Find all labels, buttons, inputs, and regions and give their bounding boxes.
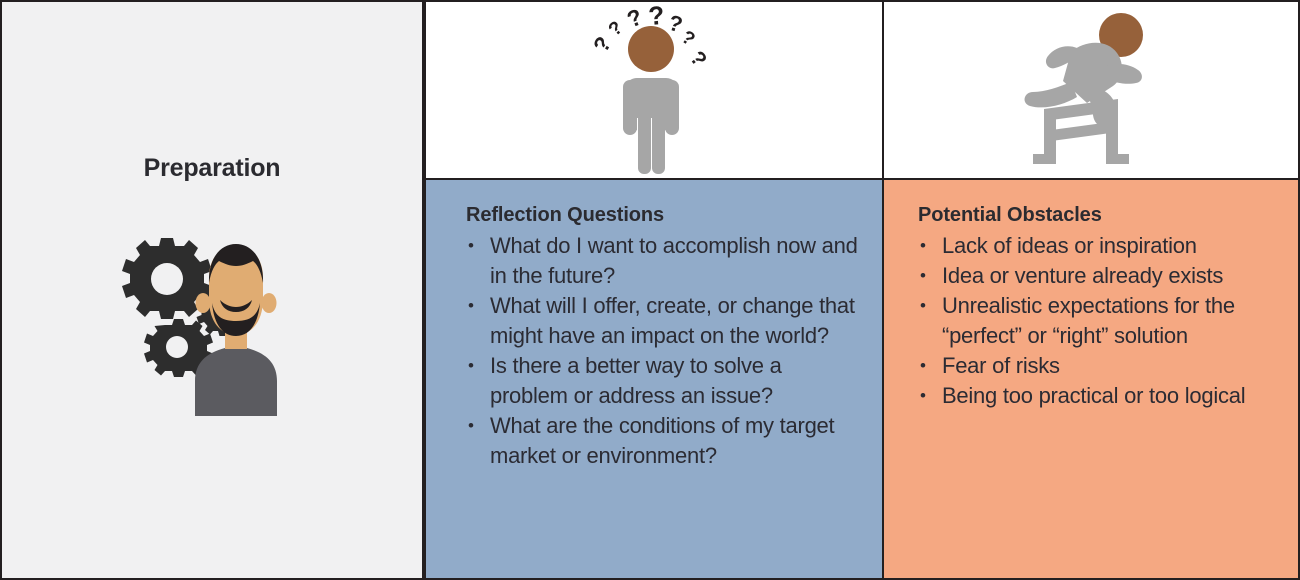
person-jumping-hurdle-icon — [1011, 4, 1171, 176]
svg-text:?: ? — [588, 32, 616, 57]
reflection-questions-column: ? ? ? ? ? ? ? — [424, 0, 884, 580]
page-title: Preparation — [144, 154, 281, 183]
reflection-questions-heading: Reflection Questions — [466, 204, 864, 227]
list-item: Unrealistic expectations for the “perfec… — [918, 291, 1280, 351]
list-item: Lack of ideas or inspiration — [918, 231, 1280, 261]
svg-text:?: ? — [666, 10, 686, 38]
list-item: What will I offer, create, or change tha… — [466, 291, 864, 351]
person-with-gears-thinking-icon — [117, 221, 307, 416]
list-item: Idea or venture already exists — [918, 261, 1280, 291]
list-item: What are the conditions of my target mar… — [466, 411, 864, 471]
potential-obstacles-heading: Potential Obstacles — [918, 204, 1280, 227]
potential-obstacles-column: Potential Obstacles Lack of ideas or ins… — [884, 0, 1300, 580]
reflection-questions-body: Reflection Questions What do I want to a… — [424, 178, 884, 580]
infographic-root: Preparation — [0, 0, 1300, 580]
reflection-questions-list: What do I want to accomplish now and in … — [466, 231, 864, 471]
list-item: What do I want to accomplish now and in … — [466, 231, 864, 291]
obstacles-icon-cell — [884, 0, 1300, 180]
confused-person-question-marks-icon: ? ? ? ? ? ? ? — [579, 4, 729, 176]
reflection-icon-cell: ? ? ? ? ? ? ? — [424, 0, 884, 180]
potential-obstacles-list: Lack of ideas or inspiration Idea or ven… — [918, 231, 1280, 411]
svg-text:?: ? — [685, 47, 711, 71]
preparation-panel: Preparation — [0, 0, 424, 580]
list-item: Fear of risks — [918, 351, 1280, 381]
svg-text:?: ? — [605, 17, 627, 41]
list-item: Being too practical or too logical — [918, 381, 1280, 411]
list-item: Is there a better way to solve a problem… — [466, 351, 864, 411]
potential-obstacles-body: Potential Obstacles Lack of ideas or ins… — [884, 178, 1300, 580]
